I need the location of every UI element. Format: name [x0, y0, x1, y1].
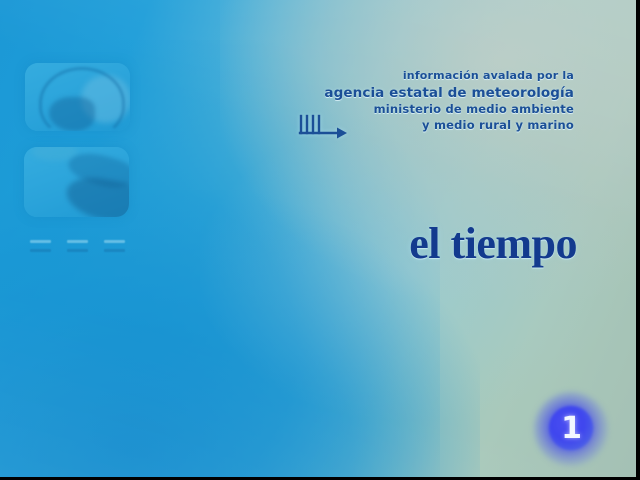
credits-block: información avalada por la agencia estat… — [324, 69, 574, 133]
credits-line-3: ministerio de medio ambiente — [324, 102, 574, 118]
dash-mark-1 — [30, 240, 51, 252]
thumbnail-panel-top — [25, 63, 130, 131]
channel-badge: 1 — [540, 398, 602, 460]
thumbnail-panel-bottom — [24, 147, 129, 217]
letterbox-bar-right — [636, 0, 640, 480]
dash-mark-3 — [104, 240, 125, 252]
broadcast-title-card: información avalada por la agencia estat… — [0, 0, 640, 480]
dash-mark-2 — [67, 240, 88, 252]
channel-badge-number: 1 — [540, 398, 602, 460]
dash-mark-group — [30, 240, 125, 252]
thumbnail-top-silhouette-blob — [49, 97, 95, 131]
page-title: el tiempo — [409, 218, 577, 269]
thumbnail-top-image — [25, 63, 130, 131]
credits-line-2: agencia estatal de meteorología — [324, 84, 574, 102]
credits-line-1: información avalada por la — [324, 69, 574, 84]
credits-line-4: y medio rural y marino — [324, 118, 574, 134]
thumbnail-bottom-image — [24, 147, 129, 217]
